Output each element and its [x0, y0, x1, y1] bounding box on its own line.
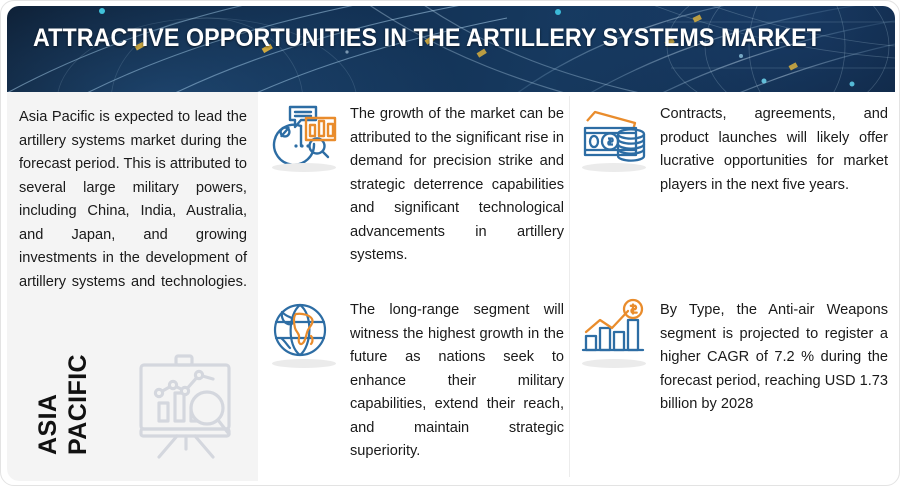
icon-shadow: [582, 163, 646, 172]
body-area: Asia Pacific is expected to lead the art…: [7, 92, 895, 481]
insight-text-long-range: The long-range segment will witness the …: [350, 298, 564, 476]
insight-text-contracts: Contracts, agreements, and product launc…: [660, 102, 888, 292]
presentation-chart-magnifier-icon: [129, 349, 247, 461]
icon-shadow: [582, 359, 646, 368]
icon-shadow: [272, 163, 336, 172]
insight-card-contracts: Contracts, agreements, and product launc…: [578, 102, 888, 292]
growth-bar-chart-dollar-icon: [578, 298, 652, 372]
content-grid: The growth of the market can be attribut…: [258, 92, 895, 481]
region-label: ASIA PACIFIC: [33, 354, 93, 455]
region-label-line2: PACIFIC: [64, 354, 92, 455]
header-banner: ATTRACTIVE OPPORTUNITIES IN THE ARTILLER…: [7, 6, 895, 92]
insight-card-market-growth: The growth of the market can be attribut…: [268, 102, 564, 292]
page-title: ATTRACTIVE OPPORTUNITIES IN THE ARTILLER…: [33, 24, 821, 53]
insight-card-anti-air: By Type, the Anti-air Weapons segment is…: [578, 298, 888, 476]
insight-text-market-growth: The growth of the market can be attribut…: [350, 102, 564, 292]
insight-text-anti-air: By Type, the Anti-air Weapons segment is…: [660, 298, 888, 476]
globe-icon: [268, 298, 342, 372]
pie-chart-analytics-icon: [268, 102, 342, 176]
region-label-line1: ASIA: [34, 394, 62, 455]
region-description: Asia Pacific is expected to lead the art…: [19, 106, 247, 294]
left-region-panel: Asia Pacific is expected to lead the art…: [7, 92, 258, 481]
column-divider: [569, 96, 570, 477]
money-banknote-coins-icon: [578, 102, 652, 176]
icon-shadow: [272, 359, 336, 368]
insight-card-long-range: The long-range segment will witness the …: [268, 298, 564, 476]
infographic-page: ATTRACTIVE OPPORTUNITIES IN THE ARTILLER…: [0, 0, 900, 486]
